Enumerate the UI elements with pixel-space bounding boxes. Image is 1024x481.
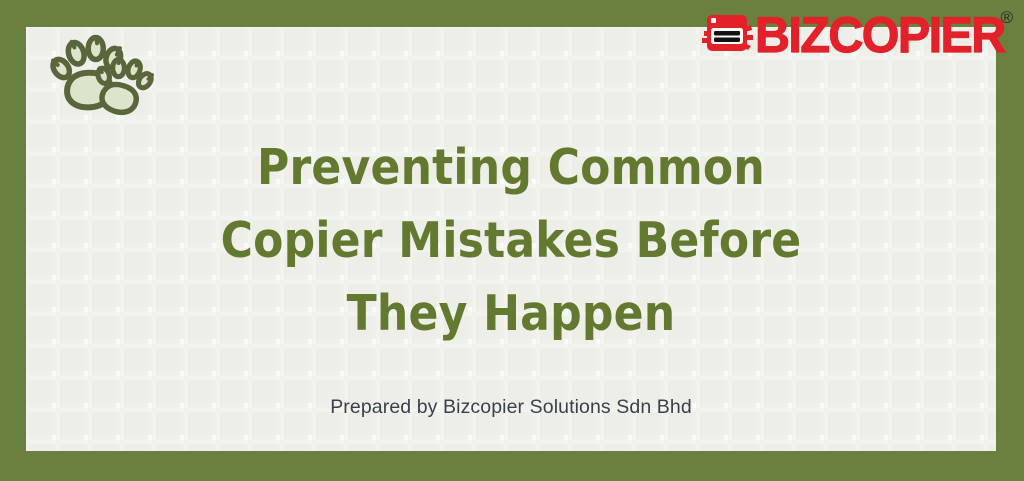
title-slide: Preventing Common Copier Mistakes Before…: [0, 0, 1024, 481]
page-title: Preventing Common Copier Mistakes Before…: [26, 131, 996, 350]
title-line-1: Preventing Common: [26, 131, 996, 204]
logo-wordmark: BIZCOPIER: [755, 7, 1005, 59]
copier-machine-icon: [700, 11, 754, 55]
bizcopier-logo: BIZCOPIER ®: [700, 5, 1013, 61]
title-line-2: Copier Mistakes Before: [26, 204, 996, 277]
slide-content: Preventing Common Copier Mistakes Before…: [26, 131, 996, 420]
paw-prints-icon: [38, 31, 168, 121]
subtitle-prepared-by: Prepared by Bizcopier Solutions Sdn Bhd: [26, 350, 996, 420]
slide-canvas: Preventing Common Copier Mistakes Before…: [26, 27, 996, 451]
title-line-3: They Happen: [26, 277, 996, 350]
